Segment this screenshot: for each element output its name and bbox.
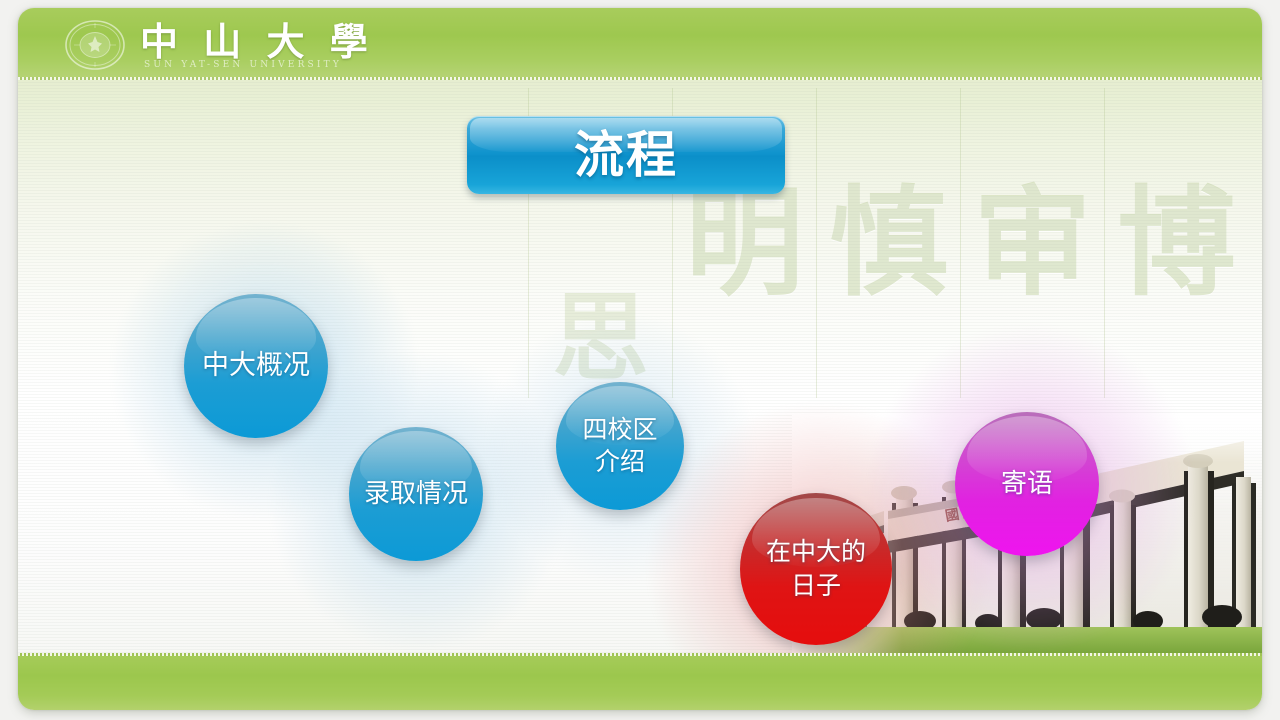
flow-node-admission[interactable]: 录取情况 [349, 427, 483, 561]
brand-title-chinese: 中 山 大 學 [140, 20, 374, 64]
slide-header: 中 山 大 學 SUN YAT-SEN UNIVERSITY [18, 8, 1262, 80]
presentation-slide: 中 山 大 學 SUN YAT-SEN UNIVERSITY 博 审 慎 明 [0, 0, 1280, 720]
watermark-char-text: 明 [685, 184, 803, 302]
flow-node-life[interactable]: 在中大的 日子 [740, 493, 892, 645]
flow-node-overview[interactable]: 中大概况 [184, 294, 328, 438]
watermark-char: 博 [1104, 88, 1248, 398]
flow-node-label: 录取情况 [364, 480, 468, 509]
footer-divider [18, 653, 1262, 656]
page-title: 流程 [574, 128, 678, 182]
slide-canvas: 博 审 慎 明 思 [18, 80, 1262, 653]
slide-title-banner: 流程 [467, 116, 785, 194]
slide-footer [18, 653, 1262, 710]
watermark-char-text: 博 [1117, 184, 1235, 302]
flow-node-message[interactable]: 寄语 [955, 412, 1099, 556]
flow-node-label: 四校区 介绍 [582, 414, 657, 478]
flow-node-label: 在中大的 日子 [766, 535, 866, 603]
watermark-char-text: 思 [553, 290, 649, 386]
slide-frame: 中 山 大 學 SUN YAT-SEN UNIVERSITY 博 审 慎 明 [18, 8, 1262, 710]
flow-node-campuses[interactable]: 四校区 介绍 [556, 382, 684, 510]
watermark-char-text: 慎 [829, 184, 947, 302]
watermark-char: 审 [960, 88, 1104, 398]
flow-node-label: 寄语 [1001, 469, 1053, 499]
brand-title-english: SUN YAT-SEN UNIVERSITY [144, 60, 342, 70]
watermark-char: 慎 [816, 88, 960, 398]
watermark-char-text: 审 [973, 184, 1091, 302]
university-seal-icon [64, 19, 126, 71]
flow-node-label: 中大概况 [202, 351, 310, 381]
